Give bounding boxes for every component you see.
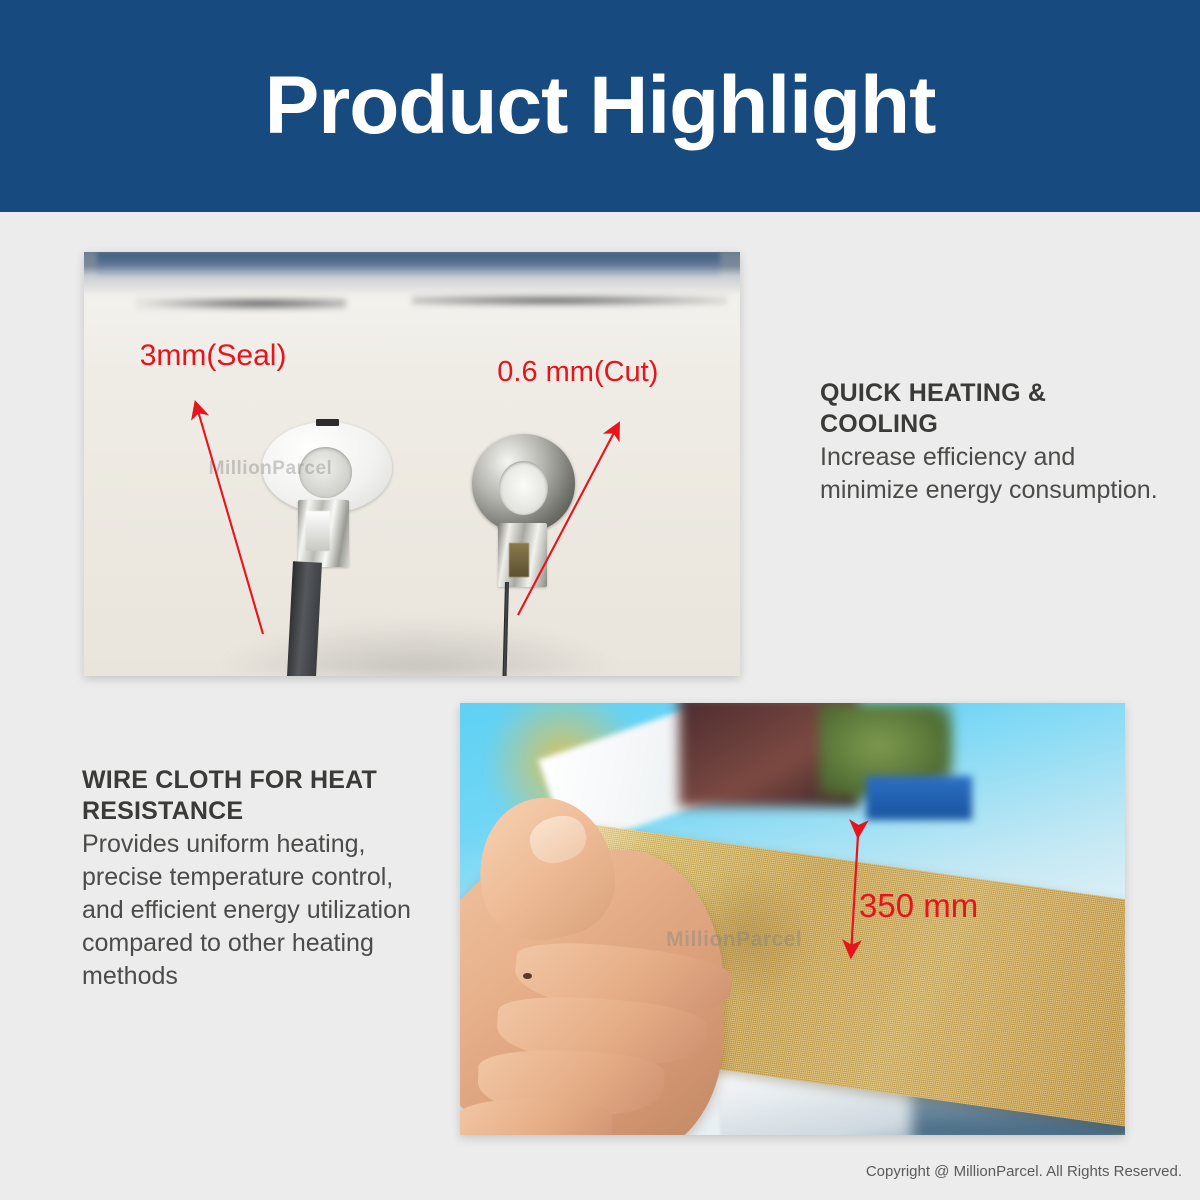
feature-heading: WIRE CLOTH FOR HEAT RESISTANCE	[82, 765, 412, 826]
thin-wire-lead	[502, 582, 508, 676]
feature-body: Increase efficiency and minimize energy …	[820, 441, 1160, 507]
feature-quick-heating-cooling: QUICK HEATING & COOLING Increase efficie…	[820, 378, 1160, 507]
feature-heading: QUICK HEATING & COOLING	[820, 378, 1160, 439]
terminal-notch	[316, 419, 338, 426]
terminal-barrel-highlight	[306, 511, 330, 552]
skin-mole	[523, 973, 532, 980]
blurred-dark-bar-right	[412, 295, 727, 306]
blurred-dark-bar-left	[136, 297, 346, 311]
little-finger	[460, 1099, 612, 1135]
hand-holding-cloth	[460, 798, 806, 1135]
blurred-background-strip	[97, 252, 720, 275]
header-banner: Product Highlight	[0, 0, 1200, 212]
page-title: Product Highlight	[265, 65, 936, 147]
photo-background	[84, 252, 740, 676]
annotation-label-350mm: 350 mm	[859, 889, 978, 922]
feature-body: Provides uniform heating, precise temper…	[82, 828, 412, 993]
footer-copyright: Copyright @ MillionParcel. All Rights Re…	[866, 1163, 1182, 1180]
sealed-ring-terminal	[241, 422, 412, 676]
terminal-ring-hole-sealed	[299, 447, 352, 498]
blurred-blue-box	[866, 776, 972, 819]
cut-ring-terminal	[451, 434, 595, 676]
annotation-label-seal: 3mm(Seal)	[140, 341, 287, 371]
flat-wire-lead	[286, 561, 321, 676]
ring-terminal-comparison-photo: MillionParcel 3mm(Seal) 0.6 mm(Cut)	[84, 252, 740, 676]
annotation-label-cut: 0.6 mm(Cut)	[497, 358, 658, 387]
terminal-barrel-shadow	[509, 543, 529, 577]
feature-wire-cloth-heat-resistance: WIRE CLOTH FOR HEAT RESISTANCE Provides …	[82, 765, 412, 993]
wire-cloth-in-hand-photo: MillionParcel 350 mm	[460, 703, 1125, 1135]
